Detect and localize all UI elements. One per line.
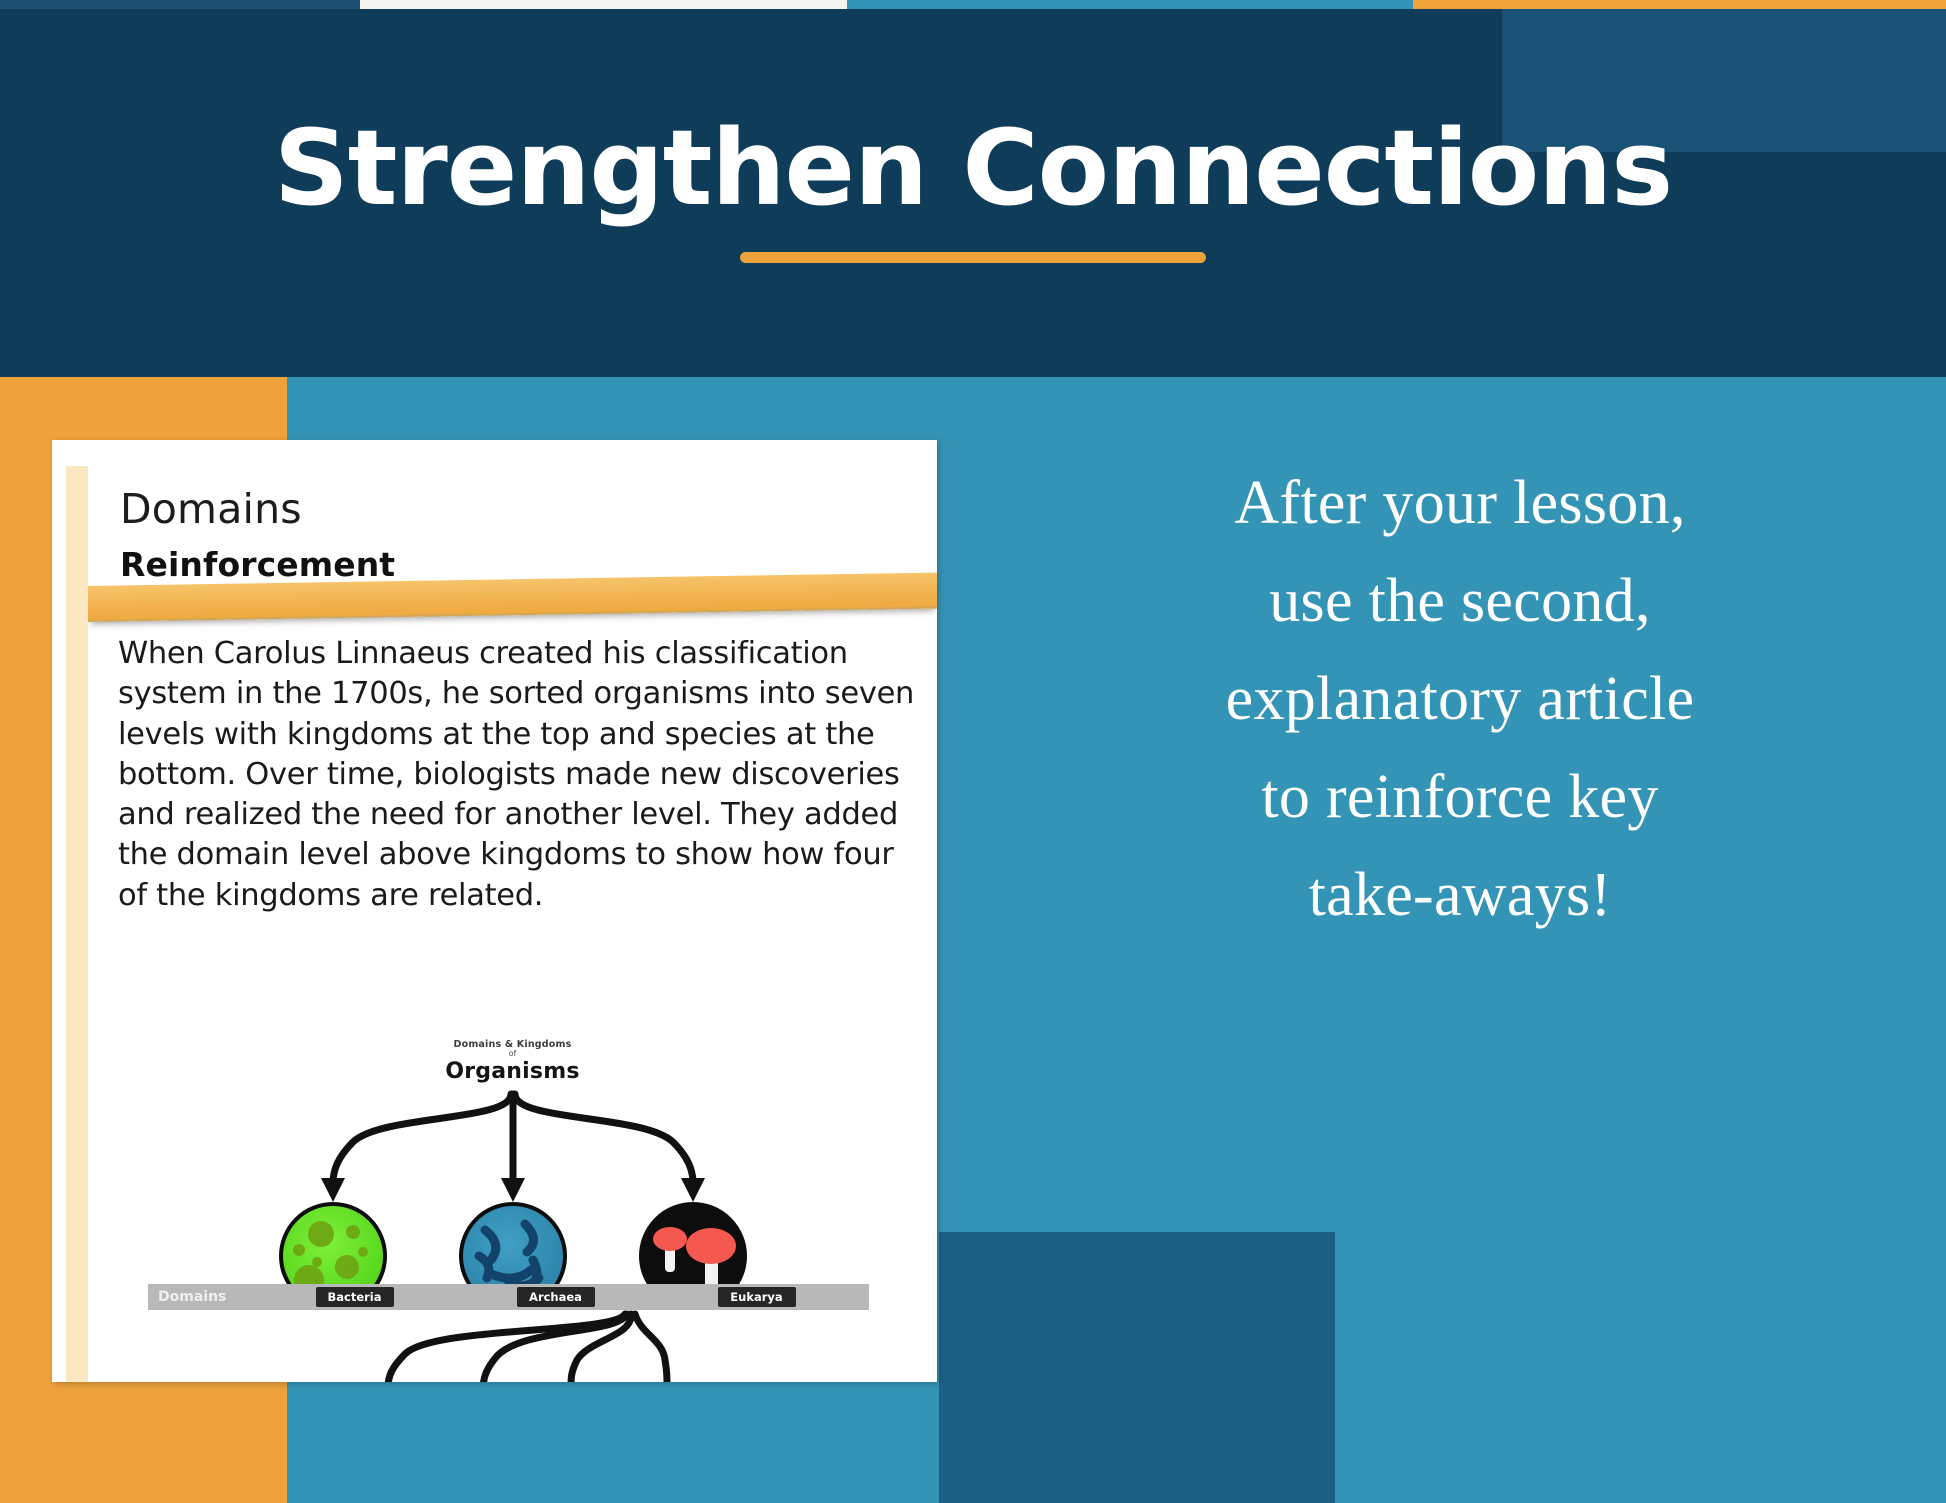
diagram-of-word: of <box>88 1050 937 1058</box>
instruction-line-1: After your lesson, <box>1010 455 1910 553</box>
domains-branch-graphic <box>233 1084 793 1284</box>
worksheet-page: Domains Reinforcement When Carolus Linna… <box>88 466 937 1382</box>
strip-segment-orange <box>1413 0 1946 9</box>
strip-segment-dark <box>0 0 360 9</box>
slide: Strengthen Connections Domains Reinforce… <box>0 0 1946 1503</box>
worksheet-header: Domains Reinforcement <box>88 466 937 592</box>
strip-segment-white <box>360 0 847 9</box>
domains-row-label: Domains <box>158 1289 254 1305</box>
kingdoms-branch-graphic <box>233 1310 793 1382</box>
domain-chip: Archaea <box>517 1287 595 1307</box>
worksheet-title: Domains <box>120 488 937 531</box>
instruction-line-5: take-aways! <box>1010 847 1910 945</box>
worksheet-preview-card[interactable]: Domains Reinforcement When Carolus Linna… <box>52 440 937 1382</box>
instruction-line-4: to reinforce key <box>1010 749 1910 847</box>
title-area: Strengthen Connections <box>0 0 1946 377</box>
worksheet-left-margin-stripe <box>66 466 88 1382</box>
domain-chip: Eukarya <box>718 1287 796 1307</box>
title-underline-rule <box>740 252 1206 263</box>
worksheet-body: When Carolus Linnaeus created his classi… <box>88 634 937 916</box>
worksheet-paragraph: When Carolus Linnaeus created his classi… <box>118 634 919 916</box>
instruction-line-3: explanatory article <box>1010 651 1910 749</box>
dark-teal-accent-block <box>939 1232 1335 1503</box>
top-accent-strip <box>0 0 1946 9</box>
page-title: Strengthen Connections <box>274 114 1672 223</box>
instruction-text-block: After your lesson, use the second, expla… <box>1010 455 1910 945</box>
diagram-heading: Organisms <box>88 1059 937 1084</box>
instruction-line-2: use the second, <box>1010 553 1910 651</box>
strip-segment-teal <box>847 0 1413 9</box>
domains-row-bar: Domains Bacteria Archaea Eukarya <box>148 1284 869 1310</box>
domain-chip: Bacteria <box>316 1287 394 1307</box>
